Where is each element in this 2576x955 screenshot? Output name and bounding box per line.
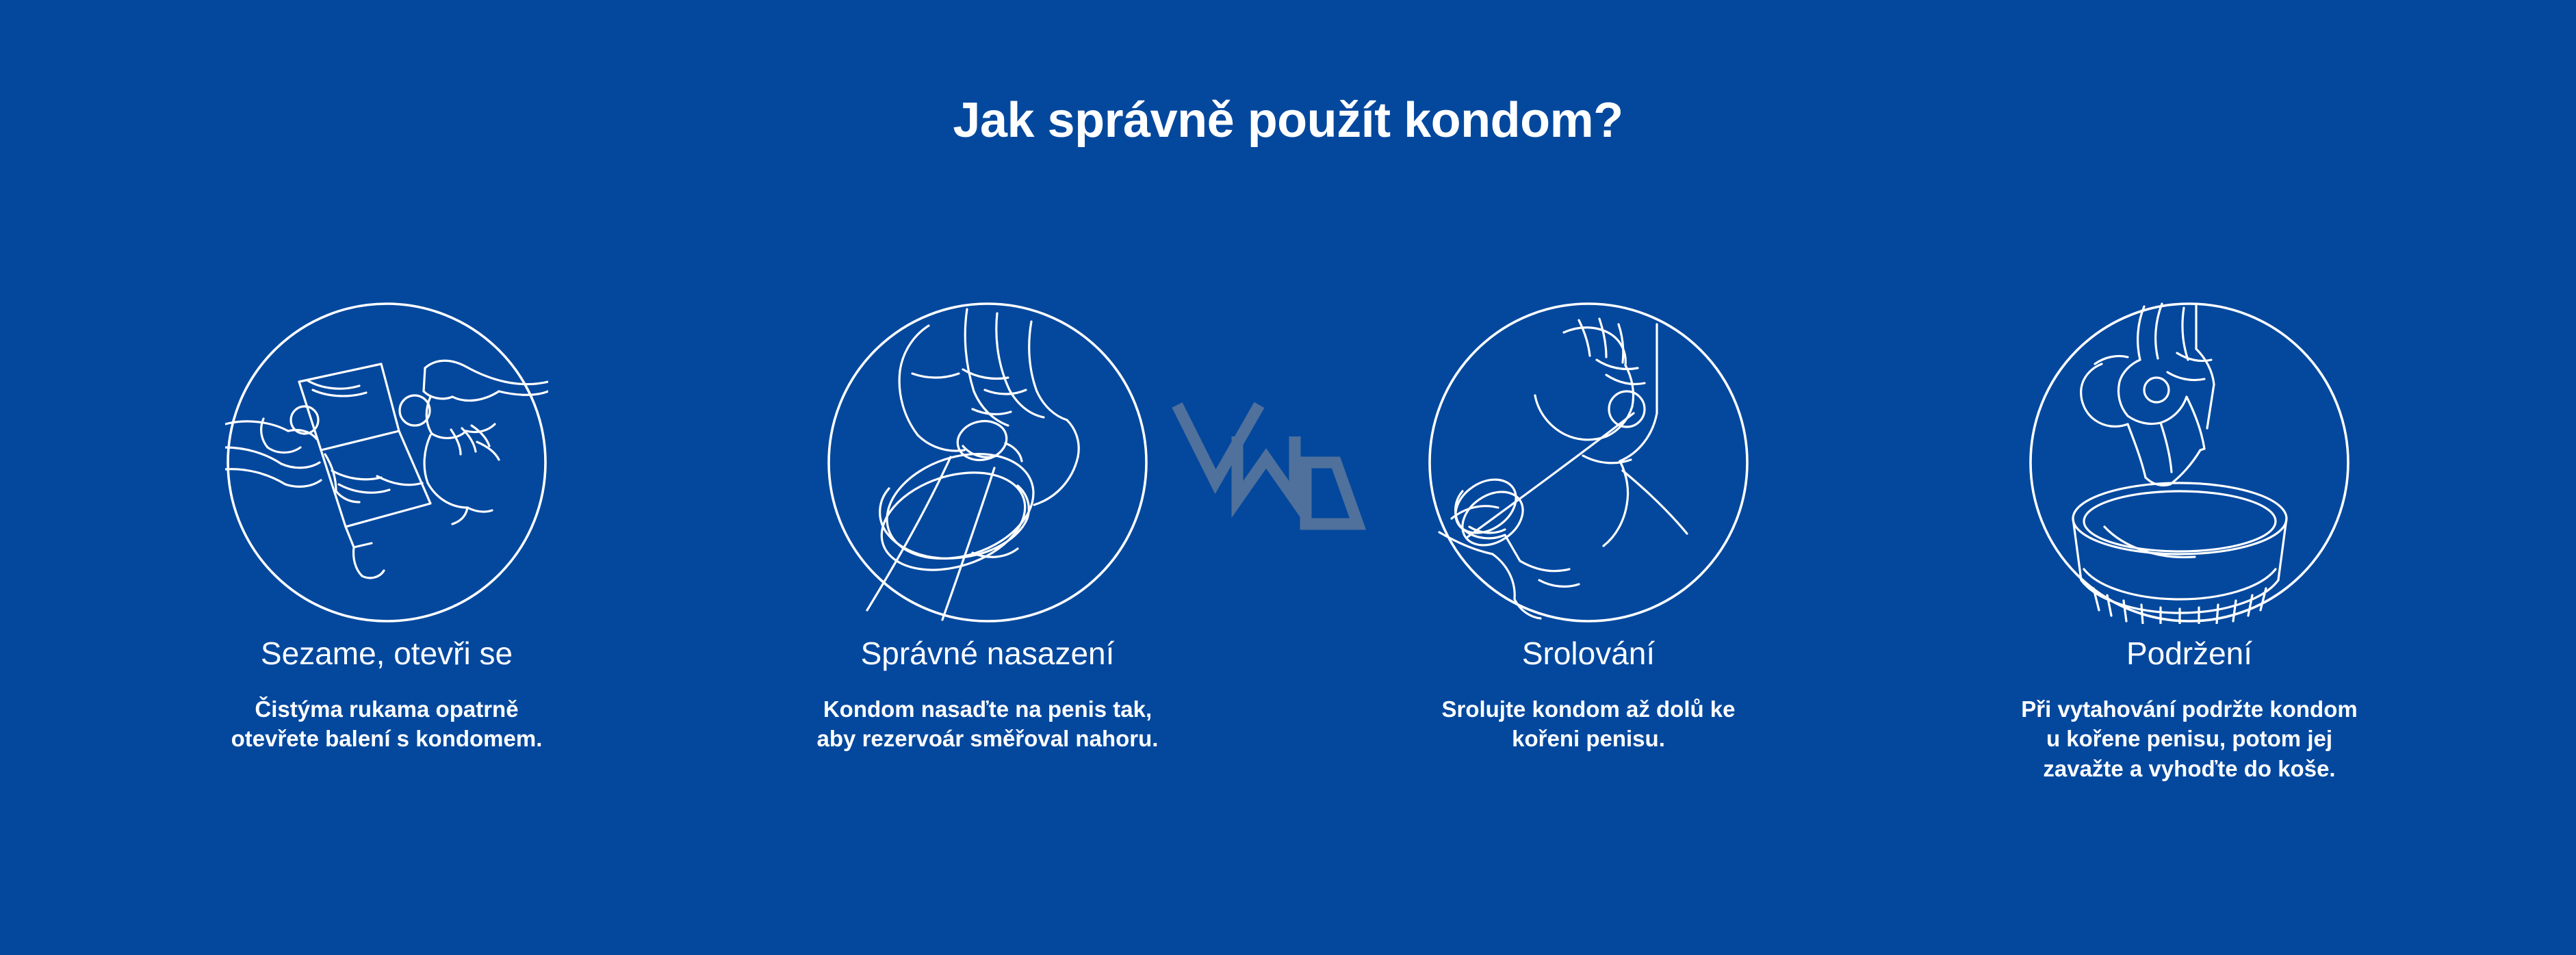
- page-title: Jak správně použít kondom?: [0, 96, 2576, 145]
- step-2-description: Kondom nasaďte na penis tak, aby rezervo…: [817, 694, 1159, 754]
- hand-dropping-condom-in-bin-icon: [2073, 304, 2287, 624]
- step-1: Sezame, otevři se Čistýma rukama opatrně…: [86, 301, 687, 754]
- step-2-title: Správné nasazení: [861, 636, 1115, 671]
- step-1-title: Sezame, otevři se: [261, 636, 513, 671]
- step-4: Podržení Při vytahování podržte kondom u…: [1889, 301, 2490, 783]
- step-3-description: Srolujte kondom až dolů ke kořeni penisu…: [1441, 694, 1735, 754]
- step-1-description: Čistýma rukama opatrně otevřete balení s…: [231, 694, 543, 754]
- step-1-illustration: [225, 301, 548, 624]
- step-4-illustration: [2028, 301, 2351, 624]
- step-3-description-line-1: Srolujte kondom až dolů ke: [1441, 694, 1735, 724]
- step-1-description-line-1: Čistýma rukama opatrně: [231, 694, 543, 724]
- hands-opening-condom-wrapper-icon: [225, 361, 548, 578]
- step-2-description-line-1: Kondom nasaďte na penis tak,: [817, 694, 1159, 724]
- step-2: Správné nasazení Kondom nasaďte na penis…: [687, 301, 1288, 754]
- step-3-illustration: [1427, 301, 1750, 624]
- hand-placing-condom-icon: [867, 309, 1079, 620]
- step-4-description: Při vytahování podržte kondom u kořene p…: [2021, 694, 2357, 784]
- condom-usage-infographic: Jak správně použít kondom?: [0, 0, 2576, 955]
- step-2-illustration: [826, 301, 1149, 624]
- step-4-description-line-2: u kořene penisu, potom jej: [2021, 724, 2357, 754]
- step-2-description-line-2: aby rezervoár směřoval nahoru.: [817, 724, 1159, 754]
- step-3-description-line-2: kořeni penisu.: [1441, 724, 1735, 754]
- step-4-description-line-1: Při vytahování podržte kondom: [2021, 694, 2357, 724]
- step-4-title: Podržení: [2126, 636, 2252, 671]
- step-4-description-line-3: zavažte a vyhoďte do koše.: [2021, 754, 2357, 784]
- steps-row: Sezame, otevři se Čistýma rukama opatrně…: [0, 301, 2576, 783]
- step-3: Srolování Srolujte kondom až dolů ke koř…: [1288, 301, 1889, 754]
- step-1-description-line-2: otevřete balení s kondomem.: [231, 724, 543, 754]
- step-3-title: Srolování: [1522, 636, 1655, 671]
